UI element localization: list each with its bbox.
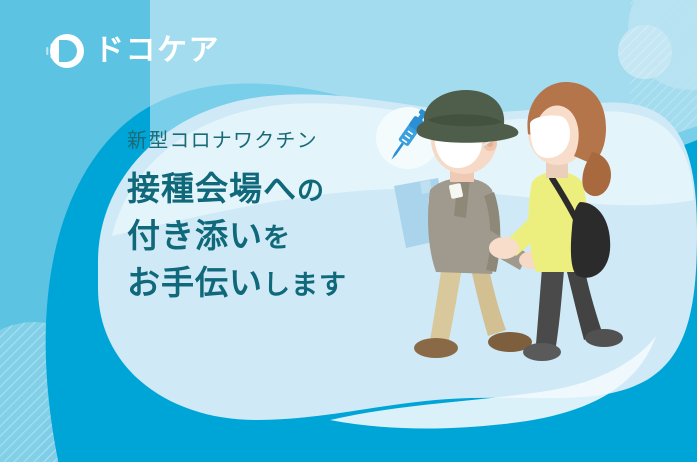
copy-line-1-main: 接種会場へ <box>127 169 297 208</box>
copy-line-3-main: お手伝い <box>127 263 263 302</box>
copy-line-2-main: 付き添い <box>127 216 263 255</box>
man-leg-back <box>430 264 462 344</box>
copy-line-1-tail: の <box>297 176 325 207</box>
copy-line-2-tail: を <box>263 223 291 254</box>
brand-logo[interactable]: ドコケア <box>45 31 220 71</box>
docokea-circle-d-logo-icon <box>45 31 85 71</box>
woman-leg-back <box>536 268 564 346</box>
copy-kicker: 新型コロナワクチン <box>127 128 427 152</box>
woman-hand <box>489 237 519 259</box>
woman-shoe-back <box>523 343 561 361</box>
man-leg-front <box>470 264 506 336</box>
brand-logo-text: ドコケア <box>94 36 220 66</box>
copy-line-3: お手伝いします <box>127 260 427 307</box>
man-shoe-back <box>414 338 458 358</box>
woman-shoe-front <box>585 329 623 347</box>
copy-line-1: 接種会場への <box>127 166 427 213</box>
escort-woman-figure <box>489 82 623 361</box>
copy-line-2: 付き添いを <box>127 213 427 260</box>
headline-copy: 新型コロナワクチン 接種会場への 付き添いを お手伝いします <box>127 128 427 307</box>
promo-banner: ドコケア 新型コロナワクチン 接種会場への 付き添いを お手伝いします <box>0 0 697 462</box>
copy-line-3-tail: します <box>263 270 347 301</box>
woman-shoulder-bag <box>571 202 610 278</box>
